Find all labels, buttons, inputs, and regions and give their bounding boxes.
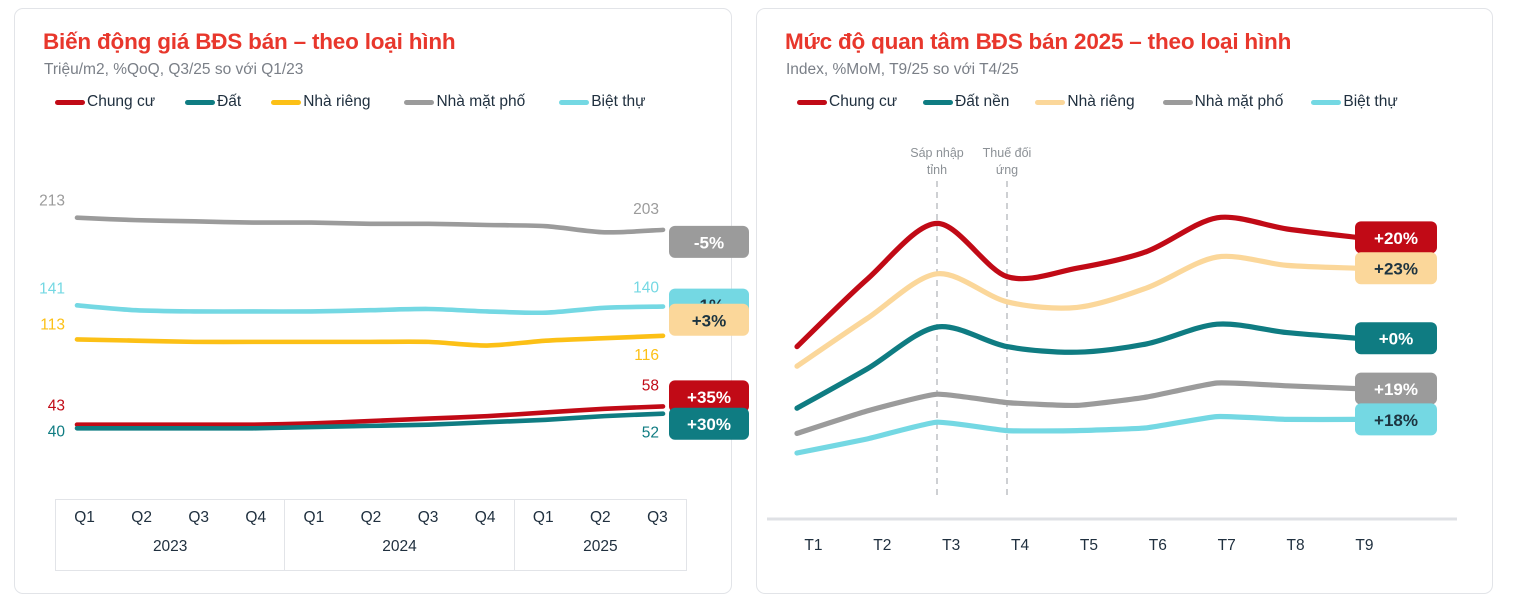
axis-quarter-label: Q3 bbox=[188, 509, 209, 527]
legend-item-label: Biệt thự bbox=[591, 93, 645, 111]
axis-quarter-label: Q4 bbox=[475, 509, 496, 527]
legend-item[interactable]: Biệt thự bbox=[1311, 93, 1397, 111]
legend-item-label: Chung cư bbox=[87, 93, 155, 111]
right-panel-title: Mức độ quan tâm BĐS bán 2025 – theo loại… bbox=[785, 29, 1474, 55]
left-chart-xaxis: Q1Q2Q3Q42023Q1Q2Q3Q42024Q1Q2Q32025 bbox=[55, 499, 687, 571]
series-end-value: 52 bbox=[642, 425, 659, 442]
axis-tick-label: T1 bbox=[779, 537, 848, 555]
annotation-label: ứng bbox=[996, 163, 1018, 177]
series-line bbox=[77, 406, 663, 424]
legend-item[interactable]: Nhà mặt phố bbox=[1163, 93, 1284, 111]
axis-quarter-label: Q4 bbox=[245, 509, 266, 527]
axis-quarter-row: Q1Q2Q3Q4 bbox=[285, 500, 513, 527]
axis-tick-label: T3 bbox=[917, 537, 986, 555]
axis-quarter-label: Q2 bbox=[131, 509, 152, 527]
axis-year-label: 2025 bbox=[515, 527, 686, 556]
legend-item[interactable]: Đất nền bbox=[923, 93, 1009, 111]
legend-item[interactable]: Nhà mặt phố bbox=[404, 93, 525, 111]
legend-swatch-icon bbox=[1035, 100, 1065, 105]
right-chart-legend: Chung cưĐất nềnNhà riêngNhà mặt phốBiệt … bbox=[797, 93, 1474, 111]
series-end-value: 116 bbox=[634, 347, 659, 364]
series-end-value: 140 bbox=[633, 280, 659, 297]
series-start-value: 213 bbox=[39, 193, 65, 210]
legend-swatch-icon bbox=[185, 100, 215, 105]
axis-year-label: 2024 bbox=[285, 527, 513, 556]
change-badge: +20% bbox=[1355, 221, 1437, 253]
svg-text:+35%: +35% bbox=[687, 388, 731, 407]
right-panel-content: Mức độ quan tâm BĐS bán 2025 – theo loại… bbox=[757, 9, 1492, 593]
series-start-value: 43 bbox=[48, 398, 65, 415]
annotation-label: tỉnh bbox=[927, 163, 947, 177]
svg-text:+30%: +30% bbox=[687, 415, 731, 434]
left-panel-content: Biến động giá BĐS bán – theo loại hình T… bbox=[15, 9, 731, 593]
axis-year-group: Q1Q2Q3Q42023 bbox=[56, 500, 285, 570]
legend-swatch-icon bbox=[55, 100, 85, 105]
legend-item-label: Biệt thự bbox=[1343, 93, 1397, 111]
axis-tick-label: T6 bbox=[1123, 537, 1192, 555]
axis-tick-label: T9 bbox=[1330, 537, 1399, 555]
series-line bbox=[797, 217, 1357, 346]
change-badge: +0% bbox=[1355, 322, 1437, 354]
axis-tick-label: T5 bbox=[1055, 537, 1124, 555]
legend-item[interactable]: Biệt thự bbox=[559, 93, 645, 111]
legend-item[interactable]: Đất bbox=[185, 93, 241, 111]
series-line bbox=[77, 305, 663, 312]
axis-quarter-label: Q2 bbox=[590, 509, 611, 527]
left-chart-legend: Chung cưĐấtNhà riêngNhà mặt phốBiệt thự bbox=[55, 93, 713, 111]
right-chart-panel: Mức độ quan tâm BĐS bán 2025 – theo loại… bbox=[756, 8, 1493, 594]
change-badge: +18% bbox=[1355, 403, 1437, 435]
series-start-value: 40 bbox=[48, 423, 66, 440]
change-badge: +3% bbox=[669, 304, 749, 336]
svg-text:+0%: +0% bbox=[1379, 330, 1414, 349]
axis-year-group: Q1Q2Q32025 bbox=[515, 500, 686, 570]
svg-text:+3%: +3% bbox=[692, 311, 727, 330]
axis-tick-label: T2 bbox=[848, 537, 917, 555]
legend-swatch-icon bbox=[797, 100, 827, 105]
series-line bbox=[77, 336, 663, 346]
right-chart-svg: Sáp nhậptỉnhThuế đốiứng+20%+23%+0%+19%+1… bbox=[757, 141, 1477, 531]
right-panel-subtitle: Index, %MoM, T9/25 so với T4/25 bbox=[786, 61, 1474, 79]
legend-item-label: Chung cư bbox=[829, 93, 897, 111]
legend-swatch-icon bbox=[923, 100, 953, 105]
legend-item-label: Nhà mặt phố bbox=[436, 93, 525, 111]
right-chart-xaxis: T1T2T3T4T5T6T7T8T9 bbox=[779, 537, 1399, 555]
svg-text:+19%: +19% bbox=[1374, 380, 1418, 399]
axis-quarter-label: Q3 bbox=[418, 509, 439, 527]
svg-text:+20%: +20% bbox=[1374, 229, 1418, 248]
legend-item[interactable]: Nhà riêng bbox=[1035, 93, 1134, 111]
legend-item-label: Nhà riêng bbox=[303, 93, 370, 111]
axis-quarter-label: Q1 bbox=[74, 509, 95, 527]
left-chart-panel: Biến động giá BĐS bán – theo loại hình T… bbox=[14, 8, 732, 594]
series-end-value: 58 bbox=[642, 377, 659, 394]
legend-swatch-icon bbox=[1311, 100, 1341, 105]
series-line bbox=[797, 417, 1357, 453]
legend-swatch-icon bbox=[559, 100, 589, 105]
axis-year-label: 2023 bbox=[56, 527, 284, 556]
axis-quarter-label: Q1 bbox=[533, 509, 554, 527]
series-start-value: 113 bbox=[40, 316, 65, 333]
left-chart-plot: 21314111343402031401165852-5%-1%+3%+35%+… bbox=[15, 161, 731, 491]
svg-text:+18%: +18% bbox=[1374, 411, 1418, 430]
change-badge: +35% bbox=[669, 380, 749, 412]
axis-quarter-label: Q2 bbox=[361, 509, 382, 527]
legend-item-label: Đất bbox=[217, 93, 241, 111]
annotation-label: Thuế đối bbox=[983, 146, 1032, 160]
right-chart-plot: Sáp nhậptỉnhThuế đốiứng+20%+23%+0%+19%+1… bbox=[757, 141, 1492, 531]
change-badge: -5% bbox=[669, 226, 749, 258]
legend-swatch-icon bbox=[271, 100, 301, 105]
axis-tick-label: T7 bbox=[1192, 537, 1261, 555]
legend-item-label: Đất nền bbox=[955, 93, 1009, 111]
axis-quarter-row: Q1Q2Q3 bbox=[515, 500, 686, 527]
axis-year-group: Q1Q2Q3Q42024 bbox=[285, 500, 514, 570]
svg-text:+23%: +23% bbox=[1374, 260, 1418, 279]
axis-quarter-label: Q3 bbox=[647, 509, 668, 527]
change-badge: +19% bbox=[1355, 373, 1437, 405]
legend-item-label: Nhà riêng bbox=[1067, 93, 1134, 111]
series-line bbox=[77, 218, 663, 233]
axis-tick-label: T8 bbox=[1261, 537, 1330, 555]
left-chart-svg: 21314111343402031401165852-5%-1%+3%+35%+… bbox=[15, 161, 731, 491]
legend-swatch-icon bbox=[1163, 100, 1193, 105]
left-panel-title: Biến động giá BĐS bán – theo loại hình bbox=[43, 29, 713, 55]
change-badge: +30% bbox=[669, 408, 749, 440]
legend-item-label: Nhà mặt phố bbox=[1195, 93, 1284, 111]
annotation-label: Sáp nhập bbox=[910, 146, 964, 160]
series-start-value: 141 bbox=[39, 280, 65, 297]
legend-item[interactable]: Chung cư bbox=[797, 93, 897, 111]
dashboard: Biến động giá BĐS bán – theo loại hình T… bbox=[0, 0, 1523, 602]
axis-tick-label: T4 bbox=[986, 537, 1055, 555]
legend-swatch-icon bbox=[404, 100, 434, 105]
legend-item[interactable]: Nhà riêng bbox=[271, 93, 370, 111]
svg-text:-5%: -5% bbox=[694, 233, 724, 252]
change-badge: +23% bbox=[1355, 252, 1437, 284]
series-line bbox=[797, 383, 1357, 434]
series-end-value: 203 bbox=[633, 201, 659, 218]
series-line bbox=[797, 324, 1357, 408]
legend-item[interactable]: Chung cư bbox=[55, 93, 155, 111]
axis-quarter-label: Q1 bbox=[304, 509, 325, 527]
left-panel-subtitle: Triệu/m2, %QoQ, Q3/25 so với Q1/23 bbox=[44, 61, 713, 79]
axis-quarter-row: Q1Q2Q3Q4 bbox=[56, 500, 284, 527]
